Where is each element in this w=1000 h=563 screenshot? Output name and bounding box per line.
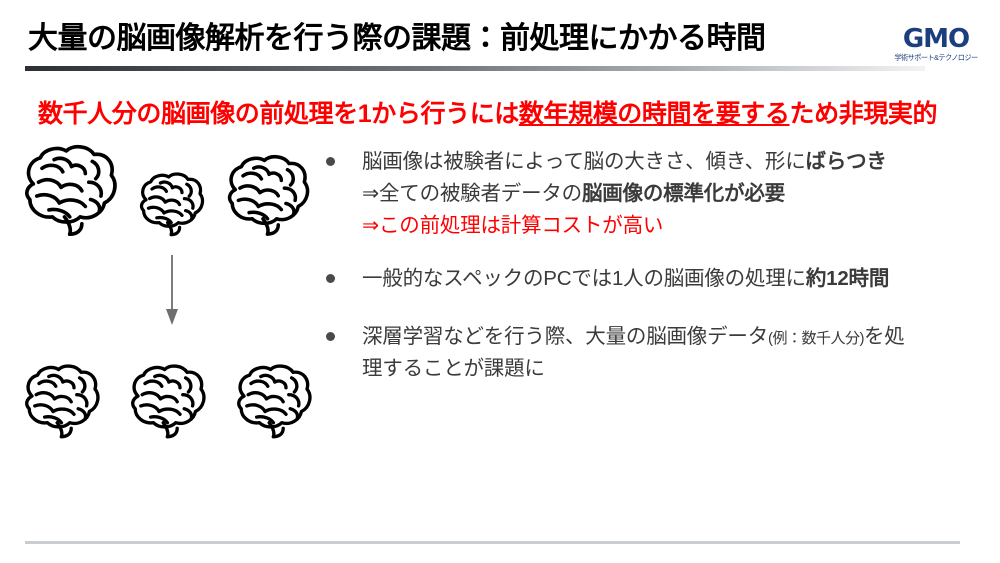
headline-part-3: ため非現実的 <box>790 100 938 128</box>
brain-icon <box>220 152 312 238</box>
bullet-text: ⇒全ての被験者データの <box>362 182 582 205</box>
bullet-text: 深層学習などを行う際、大量の脳画像データ <box>362 325 768 348</box>
bullet-line-emphasis: ⇒この前処理は計算コストが高い <box>362 210 990 242</box>
brain-row-normalized <box>0 342 338 442</box>
brain-row-unnormalized <box>0 138 336 238</box>
bullet-line: ⇒全ての被験者データの脳画像の標準化が必要 <box>362 178 990 210</box>
bullet-line: 理することが課題に <box>362 353 990 385</box>
slide-canvas: 大量の脳画像解析を行う際の課題：前処理にかかる時間 GMO 学術サポート&テクノ… <box>0 0 1000 563</box>
title-area: 大量の脳画像解析を行う際の課題：前処理にかかる時間 <box>0 0 1000 74</box>
gmo-tagline: 学術サポート&テクノロジー <box>882 54 990 62</box>
bullet-text-bold: 脳画像の標準化が必要 <box>582 182 785 205</box>
downward-arrow-icon <box>150 255 194 325</box>
bullet-list: 脳画像は被験者によって脳の大きさ、傾き、形にばらつき ⇒全ての被験者データの脳画… <box>318 146 990 385</box>
headline-banner: 数千人分の脳画像の前処理を1から行うには数年規模の時間を要するため非現実的 <box>38 94 937 130</box>
list-item: 脳画像は被験者によって脳の大きさ、傾き、形にばらつき ⇒全ての被験者データの脳画… <box>318 146 990 241</box>
brain-icon <box>134 170 206 238</box>
brain-icon <box>230 360 314 442</box>
bullet-text: 一般的なスペックのPCでは1人の脳画像の処理に <box>362 267 806 290</box>
bullet-line: 脳画像は被験者によって脳の大きさ、傾き、形にばらつき <box>362 146 990 178</box>
page-title: 大量の脳画像解析を行う際の課題：前処理にかかる時間 <box>28 22 766 55</box>
bullet-text-bold: ばらつき <box>806 150 887 173</box>
list-item: 一般的なスペックのPCでは1人の脳画像の処理に約12時間 <box>318 263 990 295</box>
bullet-text-note: (例：数千人分) <box>768 330 864 347</box>
brain-icon <box>16 142 120 238</box>
bullet-text: を処 <box>864 325 905 348</box>
list-item: 深層学習などを行う際、大量の脳画像データ(例：数千人分)を処 理することが課題に <box>318 321 990 385</box>
headline-part-2-underlined: 数年規模の時間を要する <box>519 100 790 128</box>
bullet-dot-icon <box>326 157 335 166</box>
bullet-line: 深層学習などを行う際、大量の脳画像データ(例：数千人分)を処 <box>362 321 990 353</box>
brain-icon <box>124 360 208 442</box>
gmo-logo: GMO 学術サポート&テクノロジー <box>880 26 992 62</box>
bullet-line: 一般的なスペックのPCでは1人の脳画像の処理に約12時間 <box>362 263 990 295</box>
bullet-text-red: ⇒この前処理は計算コストが高い <box>362 214 663 237</box>
brain-diagram <box>0 130 320 440</box>
bullet-dot-icon <box>326 332 335 341</box>
bullet-text: 脳画像は被験者によって脳の大きさ、傾き、形に <box>362 150 806 173</box>
gmo-wordmark: GMO <box>880 26 992 52</box>
footer-divider <box>25 541 960 544</box>
bullet-text: 理することが課題に <box>362 357 545 380</box>
bullet-dot-icon <box>326 274 335 283</box>
bullet-text-bold: 約12時間 <box>806 267 889 290</box>
headline-part-1: 数千人分の脳画像の前処理を1から行うには <box>38 100 519 128</box>
brain-icon <box>18 360 102 442</box>
title-divider-bar <box>25 66 925 71</box>
